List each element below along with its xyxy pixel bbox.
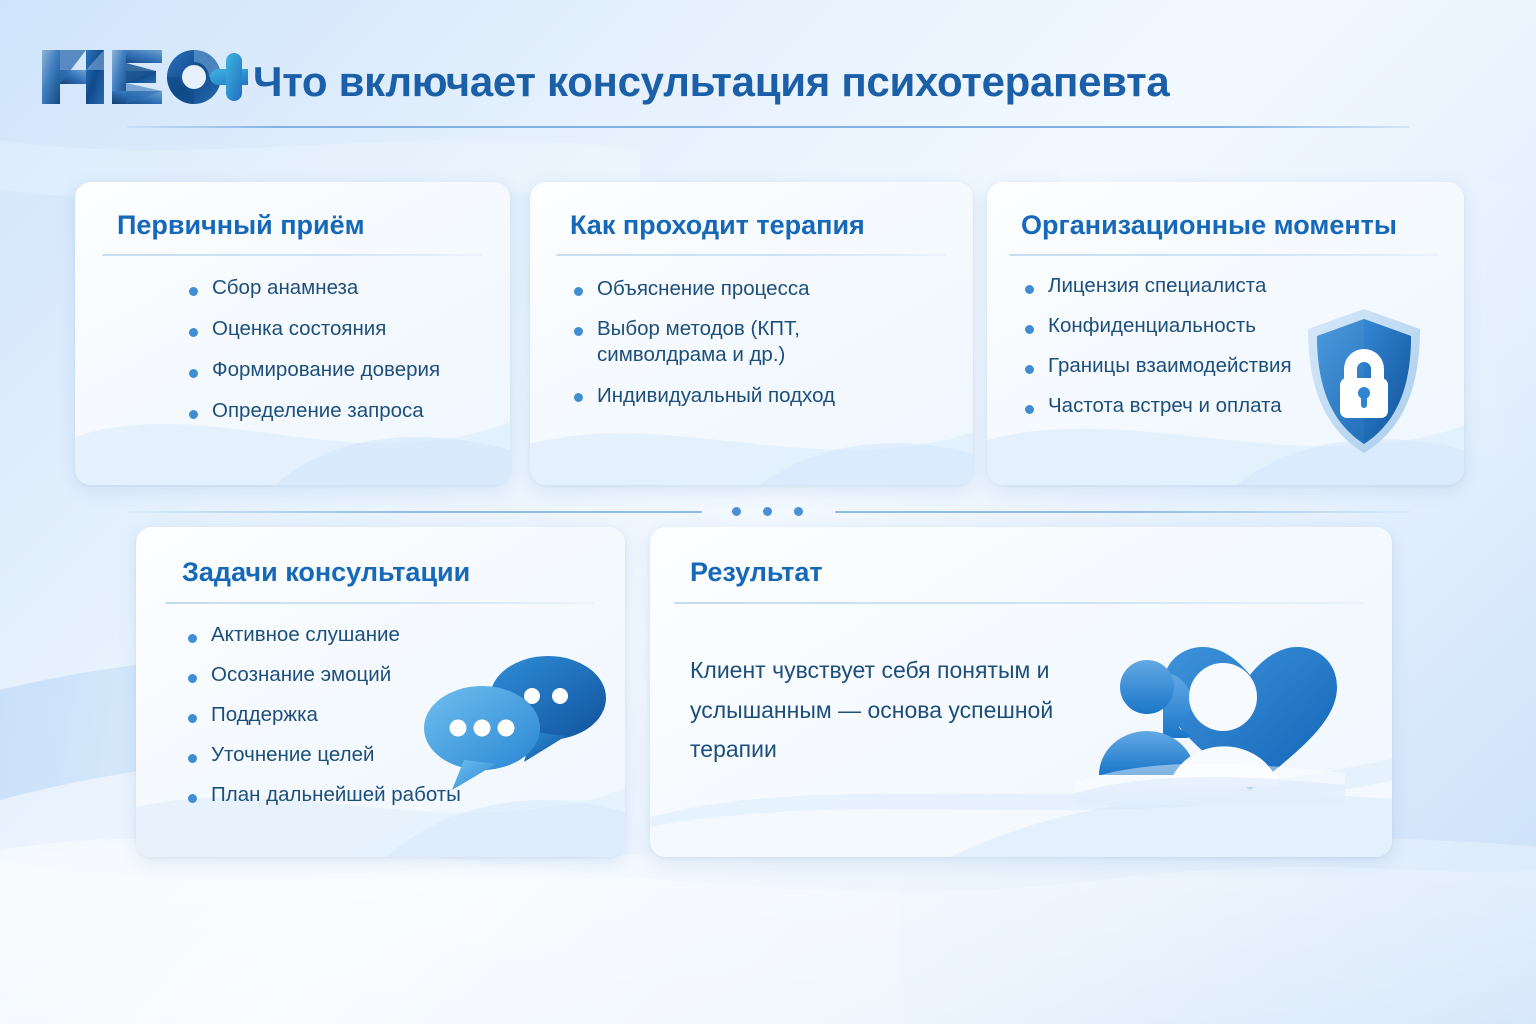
card-organizational-matters[interactable]: Организационные моменты Лицензия специал… — [987, 182, 1464, 485]
bullet-list: Объяснение процесса Выбор методов (КПТ, … — [570, 276, 870, 423]
card-title: Первичный приём — [117, 210, 365, 241]
divider-dot — [794, 507, 803, 516]
list-item: Поддержка — [184, 703, 461, 727]
list-item: Границы взаимодействия — [1021, 354, 1292, 378]
card-divider — [556, 254, 946, 256]
divider-line-left — [127, 511, 702, 513]
list-item: Формирование доверия — [185, 358, 440, 382]
card-how-therapy-goes[interactable]: Как проходит терапия Объяснение процесса… — [530, 182, 973, 485]
divider-dot — [763, 507, 772, 516]
card-title: Задачи консультации — [182, 557, 470, 588]
bullet-list: Сбор анамнеза Оценка состояния Формирова… — [185, 276, 440, 440]
card-primary-appointment[interactable]: Первичный приём Сбор анамнеза Оценка сос… — [75, 182, 510, 485]
divider-dot — [732, 507, 741, 516]
card-divider — [165, 602, 595, 604]
result-body-text: Клиент чувствует себя понятым и услышанн… — [690, 651, 1110, 770]
card-result[interactable]: Результат Клиент чувствует себя понятым … — [650, 527, 1392, 857]
list-item: Сбор анамнеза — [185, 276, 440, 300]
list-item: Индивидуальный подход — [570, 383, 870, 409]
divider-line-right — [835, 511, 1410, 513]
card-divider — [102, 254, 482, 256]
card-divider — [1009, 254, 1439, 256]
list-item: Оценка состояния — [185, 317, 440, 341]
neo-plus-logo — [38, 44, 248, 110]
card-title: Как проходит терапия — [570, 210, 865, 241]
list-item: Конфиденциальность — [1021, 314, 1292, 338]
infographic-root: Что включает консультация психотерапевта… — [0, 0, 1536, 1024]
list-item: План дальнейшей работы — [184, 783, 461, 807]
card-title: Организационные моменты — [1021, 210, 1397, 241]
list-item: Лицензия специалиста — [1021, 274, 1292, 298]
bullet-list: Активное слушание Осознание эмоций Подде… — [184, 623, 461, 823]
section-divider — [127, 506, 1410, 518]
header-divider — [127, 126, 1410, 128]
header: Что включает консультация психотерапевта — [0, 0, 1536, 140]
bullet-list: Лицензия специалиста Конфиденциальность … — [1021, 274, 1292, 434]
card-consultation-tasks[interactable]: Задачи консультации Активное слушание Ос… — [136, 527, 625, 857]
list-item: Осознание эмоций — [184, 663, 461, 687]
card-divider — [674, 602, 1364, 604]
list-item: Определение запроса — [185, 399, 440, 423]
list-item: Объяснение процесса — [570, 276, 870, 302]
card-title: Результат — [690, 557, 823, 588]
page-title: Что включает консультация психотерапевта — [253, 58, 1169, 106]
list-item: Частота встреч и оплата — [1021, 394, 1292, 418]
list-item: Выбор методов (КПТ, символдрама и др.) — [570, 316, 870, 368]
list-item: Активное слушание — [184, 623, 461, 647]
list-item: Уточнение целей — [184, 743, 461, 767]
